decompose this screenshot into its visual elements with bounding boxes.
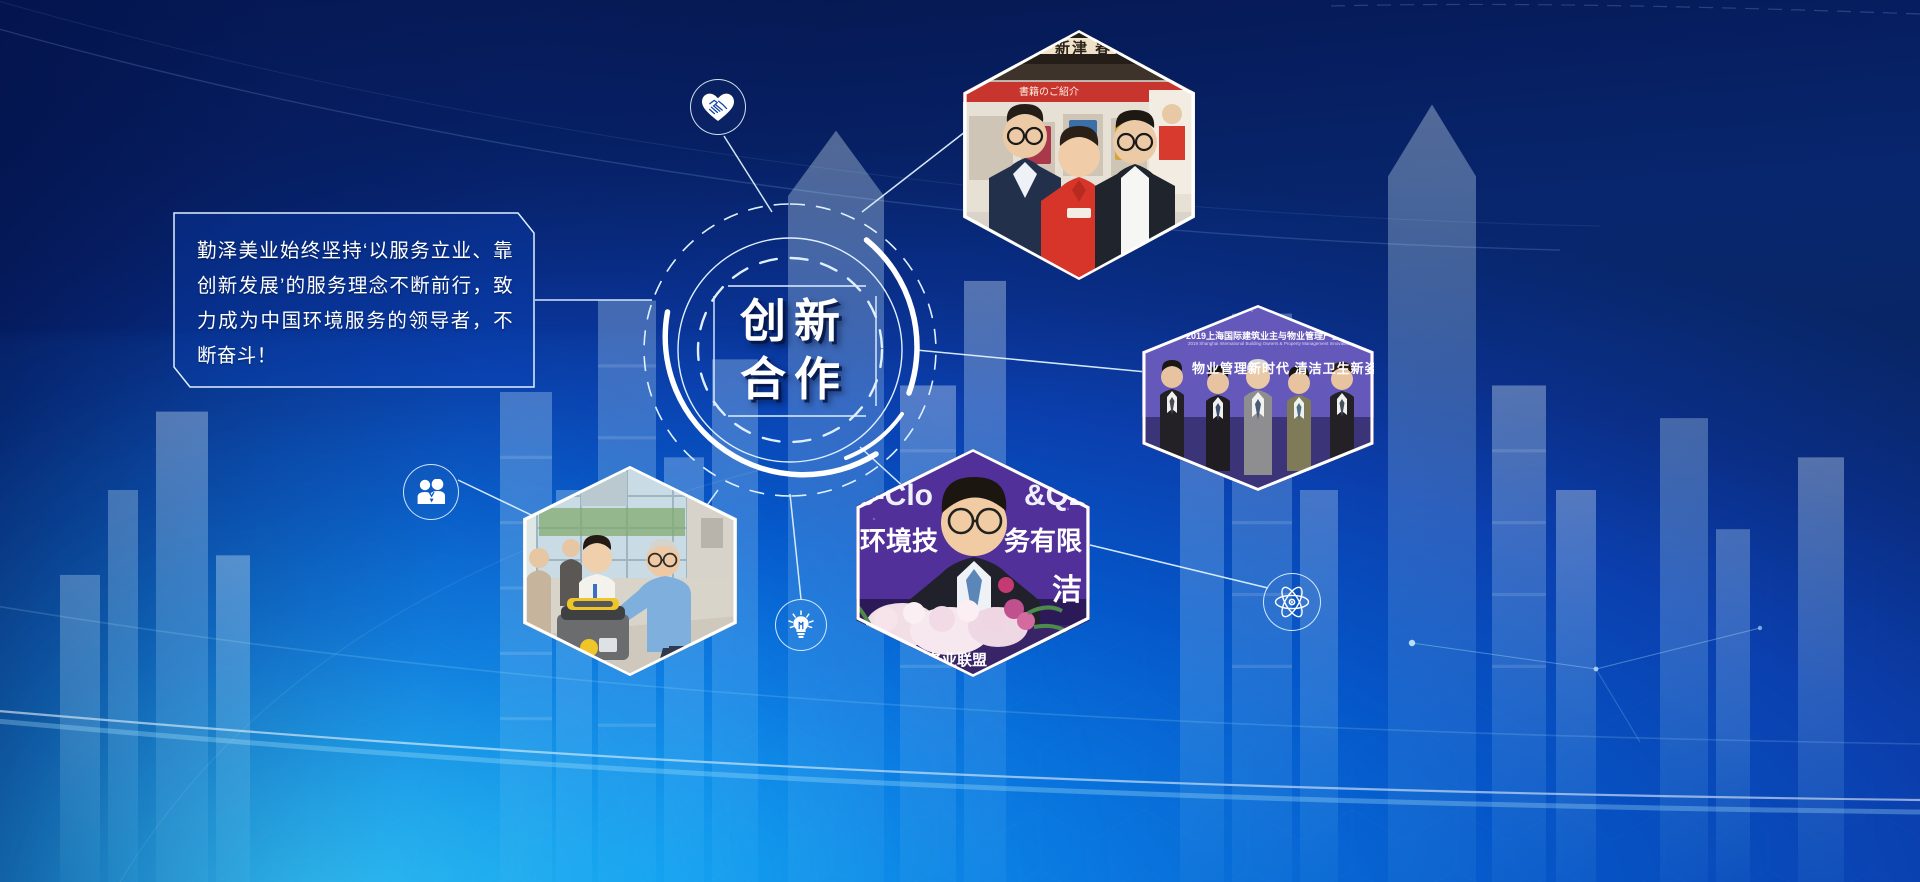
atom-icon [1274, 585, 1310, 619]
icon-node-people[interactable] [403, 464, 459, 520]
icon-node-bulb[interactable] [775, 599, 827, 651]
icon-node-atom[interactable] [1263, 573, 1321, 631]
quote-box: 勤泽美业始终坚持‘以服务立业、靠创新发展’的服务理念不断前行，致力成为中国环境服… [173, 212, 535, 388]
handshake-heart-icon [701, 92, 735, 122]
icon-node-handshake[interactable] [690, 79, 746, 135]
hex-photo-2-overlay-subtitle: 2019 Shanghai International Building Own… [1188, 341, 1374, 346]
hub-rings [640, 200, 940, 500]
connector-lines [0, 0, 1920, 882]
hex-photo-4-overlay-line1: 环境技 [860, 521, 938, 558]
hex-photo-2-overlay-slogan: 物业管理新时代 清洁卫生新姿 [1192, 358, 1374, 377]
two-people-icon [416, 479, 446, 505]
center-hub: 创新 合作 [640, 200, 940, 500]
quote-text: 勤泽美业始终坚持‘以服务立业、靠创新发展’的服务理念不断前行，致力成为中国环境服… [197, 234, 513, 374]
hex-photo-1-overlay-banner: 書籍のご紹介 [1019, 83, 1079, 98]
banner-stage: 勤泽美业始终坚持‘以服务立业、靠创新发展’的服务理念不断前行，致力成为中国环境服… [0, 0, 1920, 882]
hex-photo-4-overlay-line2: 务有限 [1004, 521, 1082, 558]
hex-photo-4-overlay-line3: 洁 [1052, 565, 1082, 609]
lightbulb-icon [786, 610, 816, 640]
